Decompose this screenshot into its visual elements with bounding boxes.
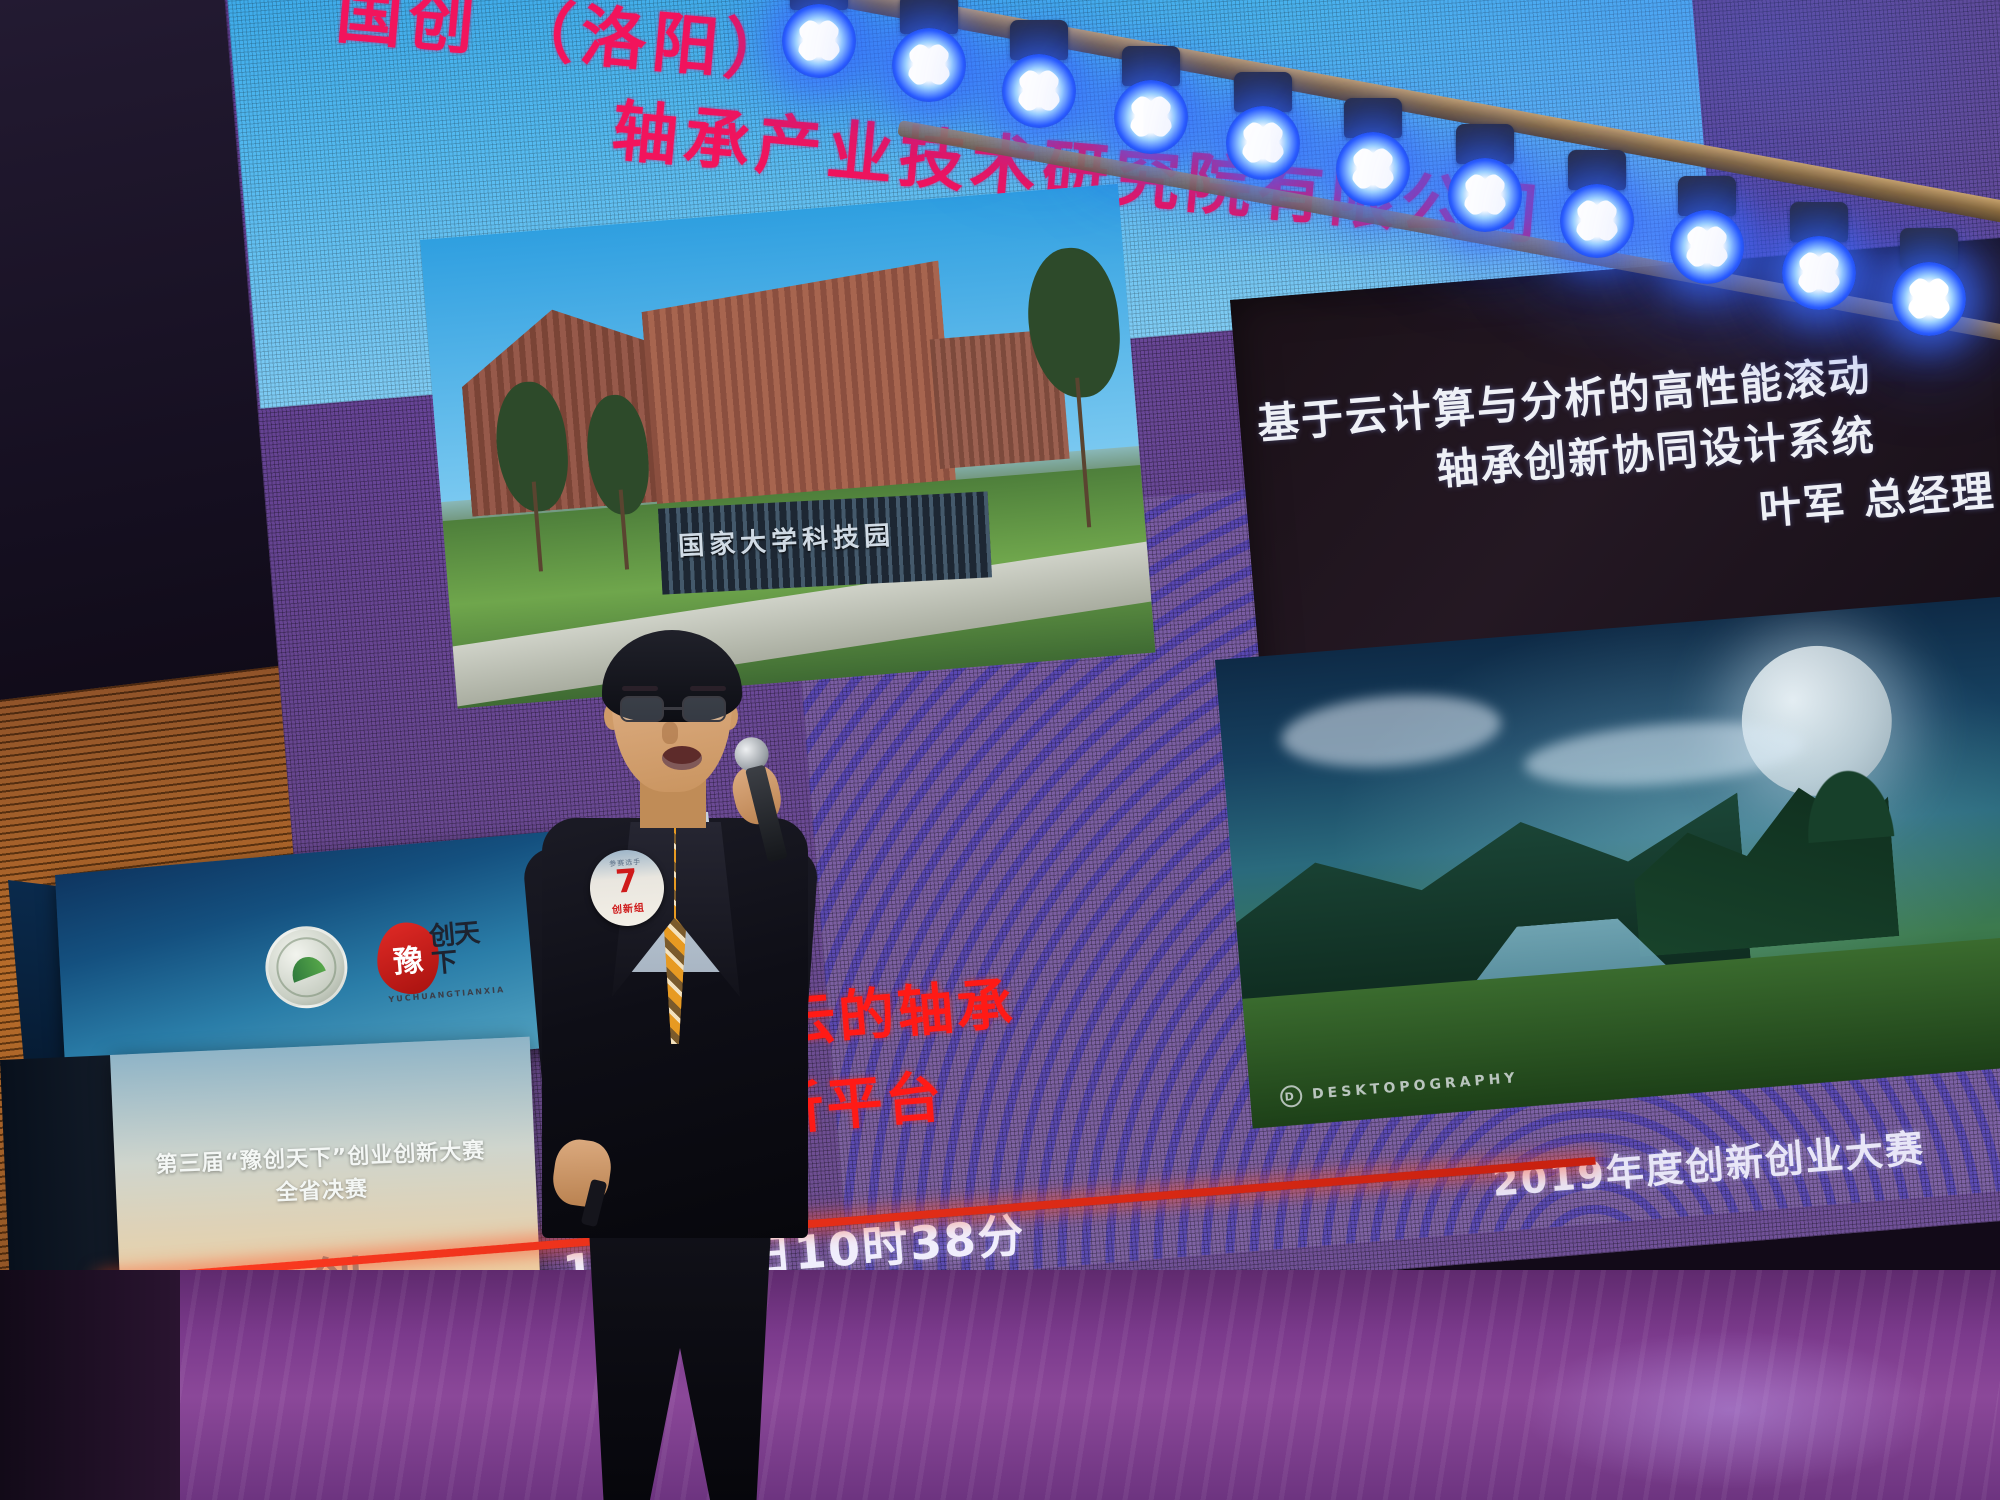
- company-title-line1: 国创 （洛阳）: [333, 0, 799, 93]
- floor-dark-left: [0, 1270, 180, 1500]
- speaker-legs: [580, 1210, 780, 1500]
- campus-photo: [420, 184, 1155, 709]
- stage-light-8: [1568, 150, 1634, 258]
- eyeglass-lens-right: [682, 696, 726, 722]
- speaker-brow-right: [690, 686, 726, 691]
- eyeglass-bridge: [664, 707, 682, 710]
- brand-cn-text: 创天下: [428, 920, 488, 978]
- stage-floor: [0, 1270, 2000, 1500]
- speaker-brow-left: [622, 686, 658, 691]
- speaker-figure: 参赛选手 7 创新组: [520, 640, 860, 1500]
- badge-group: 创新组: [611, 899, 645, 916]
- brand-logo: 豫 创天下 YUCHUANGTIANXIA: [374, 912, 491, 1001]
- eyeglass-lens-left: [620, 696, 664, 722]
- stage-light-5: [1234, 72, 1300, 180]
- speaker-mouth: [662, 746, 702, 770]
- stage-light-11: [1900, 228, 1966, 336]
- stage-light-6: [1344, 98, 1410, 206]
- stage-scene: 国创 （洛阳） 轴承产业技术研究院有限公司 国家大学科技园 基于云计算与分析的高…: [0, 0, 2000, 1500]
- stage-light-9: [1678, 176, 1744, 284]
- nature-photo: D DESKTOPOGRAPHY: [1215, 597, 2000, 1129]
- speaker-eyeglasses-icon: [620, 696, 728, 724]
- photo-palm: [1767, 714, 1926, 846]
- stage-light-4: [1122, 46, 1188, 154]
- stage-light-2: [900, 0, 966, 102]
- badge-number: 7: [614, 864, 638, 897]
- floor-light-glow: [1520, 1330, 1940, 1490]
- speaker-nose: [662, 722, 678, 744]
- stage-light-10: [1790, 202, 1856, 310]
- stage-light-1: [790, 0, 856, 78]
- stage-light-7: [1456, 124, 1522, 232]
- stage-light-3: [1010, 20, 1076, 128]
- medal-swoosh-icon: [287, 952, 326, 983]
- competition-medal-logo-icon: [262, 923, 351, 1012]
